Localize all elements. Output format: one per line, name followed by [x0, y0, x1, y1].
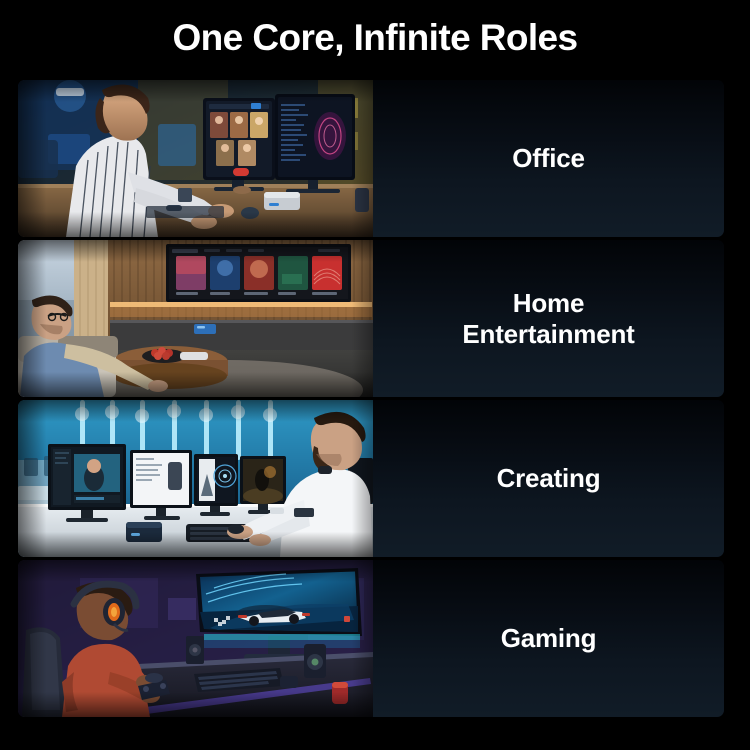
list-item[interactable]: Office [18, 80, 724, 237]
list-item-label: Creating [497, 463, 601, 494]
promo-page: One Core, Infinite Roles [0, 0, 750, 750]
creating-photo [18, 400, 373, 557]
use-case-list: Office [18, 80, 724, 717]
page-title: One Core, Infinite Roles [0, 18, 750, 59]
label-pane: Creating [373, 400, 724, 557]
label-pane: Gaming [373, 560, 724, 717]
home-entertainment-photo [18, 240, 373, 397]
list-item-label: Home Entertainment [462, 288, 634, 349]
list-item-label: Gaming [501, 623, 597, 654]
label-pane: Home Entertainment [373, 240, 724, 397]
list-item[interactable]: Gaming [18, 560, 724, 717]
list-item[interactable]: Creating [18, 400, 724, 557]
gaming-photo [18, 560, 373, 717]
list-item[interactable]: Home Entertainment [18, 240, 724, 397]
label-pane: Office [373, 80, 724, 237]
list-item-label: Office [512, 143, 584, 174]
office-photo [18, 80, 373, 237]
